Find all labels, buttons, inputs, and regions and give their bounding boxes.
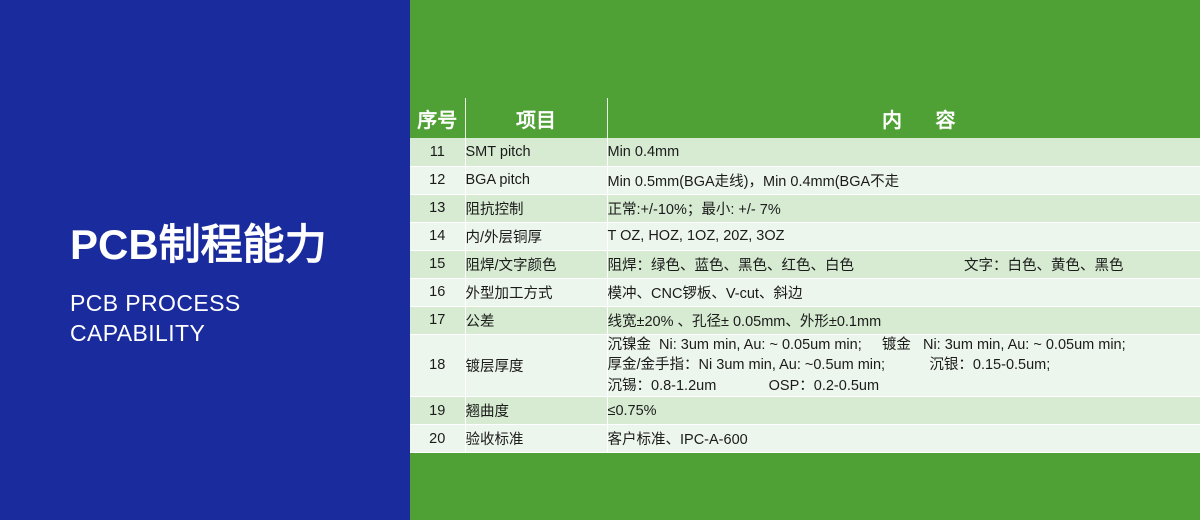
row-content-line-2: 厚金/金手指：Ni 3um min, Au: ~0.5um min; 沉银：0.… <box>608 355 1200 376</box>
table-row: 16 外型加工方式 模冲、CNC锣板、V-cut、斜边 <box>410 278 1200 306</box>
column-header-content: 内 容 <box>607 98 1200 138</box>
row-item: 内/外层铜厚 <box>465 222 607 250</box>
row-item: 镀层厚度 <box>465 334 607 397</box>
row-content: Min 0.5mm(BGA走线)，Min 0.4mm(BGA不走 <box>607 166 1200 194</box>
row-no: 19 <box>410 397 465 425</box>
row-content: Min 0.4mm <box>607 138 1200 166</box>
row-item: 公差 <box>465 306 607 334</box>
table-row: 19 翘曲度 ≤0.75% <box>410 397 1200 425</box>
page-title: PCB制程能力 <box>70 222 400 267</box>
table-row: 18 镀层厚度 沉镍金 Ni: 3um min, Au: ~ 0.05um mi… <box>410 334 1200 397</box>
page-subtitle: PCB PROCESS CAPABILITY <box>70 289 400 348</box>
row-no: 16 <box>410 278 465 306</box>
row-content: 模冲、CNC锣板、V-cut、斜边 <box>607 278 1200 306</box>
page-subtitle-line-2: CAPABILITY <box>70 319 400 348</box>
row-item: 翘曲度 <box>465 397 607 425</box>
table-row: 17 公差 线宽±20% 、孔径± 0.05mm、外形±0.1mm <box>410 306 1200 334</box>
row-content: 正常:+/-10%；最小: +/- 7% <box>607 194 1200 222</box>
row-no: 11 <box>410 138 465 166</box>
row-content: 客户标准、IPC-A-600 <box>607 425 1200 453</box>
row-item: 验收标准 <box>465 425 607 453</box>
table-row: 13 阻抗控制 正常:+/-10%；最小: +/- 7% <box>410 194 1200 222</box>
left-blue-panel: PCB制程能力 PCB PROCESS CAPABILITY <box>0 0 410 520</box>
row-content-line-3: 沉锡：0.8-1.2um OSP：0.2-0.5um <box>608 376 1200 397</box>
table-row: 15 阻焊/文字颜色 阻焊：绿色、蓝色、黑色、红色、白色 文字：白色、黄色、黑色 <box>410 250 1200 278</box>
row-content: ≤0.75% <box>607 397 1200 425</box>
page-subtitle-line-1: PCB PROCESS <box>70 289 400 318</box>
column-header-no: 序号 <box>410 98 465 138</box>
row-no: 20 <box>410 425 465 453</box>
row-no: 13 <box>410 194 465 222</box>
row-item: SMT pitch <box>465 138 607 166</box>
row-content: T OZ, HOZ, 1OZ, 20Z, 3OZ <box>607 222 1200 250</box>
row-content: 阻焊：绿色、蓝色、黑色、红色、白色 文字：白色、黄色、黑色 <box>607 250 1200 278</box>
row-item: 阻抗控制 <box>465 194 607 222</box>
row-content-line-1: 沉镍金 Ni: 3um min, Au: ~ 0.05um min; 镀金 Ni… <box>608 335 1200 356</box>
title-block: PCB制程能力 PCB PROCESS CAPABILITY <box>70 222 400 348</box>
table-row: 12 BGA pitch Min 0.5mm(BGA走线)，Min 0.4mm(… <box>410 166 1200 194</box>
column-header-item: 项目 <box>465 98 607 138</box>
table-row: 11 SMT pitch Min 0.4mm <box>410 138 1200 166</box>
pcb-capability-table: 序号 项目 内 容 11 SMT pitch Min 0.4mm 12 BGA … <box>410 98 1200 453</box>
row-content: 线宽±20% 、孔径± 0.05mm、外形±0.1mm <box>607 306 1200 334</box>
table-row: 14 内/外层铜厚 T OZ, HOZ, 1OZ, 20Z, 3OZ <box>410 222 1200 250</box>
table-row: 20 验收标准 客户标准、IPC-A-600 <box>410 425 1200 453</box>
table-body: 11 SMT pitch Min 0.4mm 12 BGA pitch Min … <box>410 138 1200 453</box>
row-content: 沉镍金 Ni: 3um min, Au: ~ 0.05um min; 镀金 Ni… <box>607 334 1200 397</box>
row-no: 18 <box>410 334 465 397</box>
table-header: 序号 项目 内 容 <box>410 98 1200 138</box>
row-no: 17 <box>410 306 465 334</box>
table-header-row: 序号 项目 内 容 <box>410 98 1200 138</box>
row-content-solder-mask: 阻焊：绿色、蓝色、黑色、红色、白色 <box>608 254 855 275</box>
row-item: 外型加工方式 <box>465 278 607 306</box>
row-content-legend-color: 文字：白色、黄色、黑色 <box>964 254 1124 275</box>
row-no: 15 <box>410 250 465 278</box>
spec-table-container: 序号 项目 内 容 11 SMT pitch Min 0.4mm 12 BGA … <box>410 98 1200 453</box>
row-no: 12 <box>410 166 465 194</box>
row-item: 阻焊/文字颜色 <box>465 250 607 278</box>
row-no: 14 <box>410 222 465 250</box>
row-item: BGA pitch <box>465 166 607 194</box>
